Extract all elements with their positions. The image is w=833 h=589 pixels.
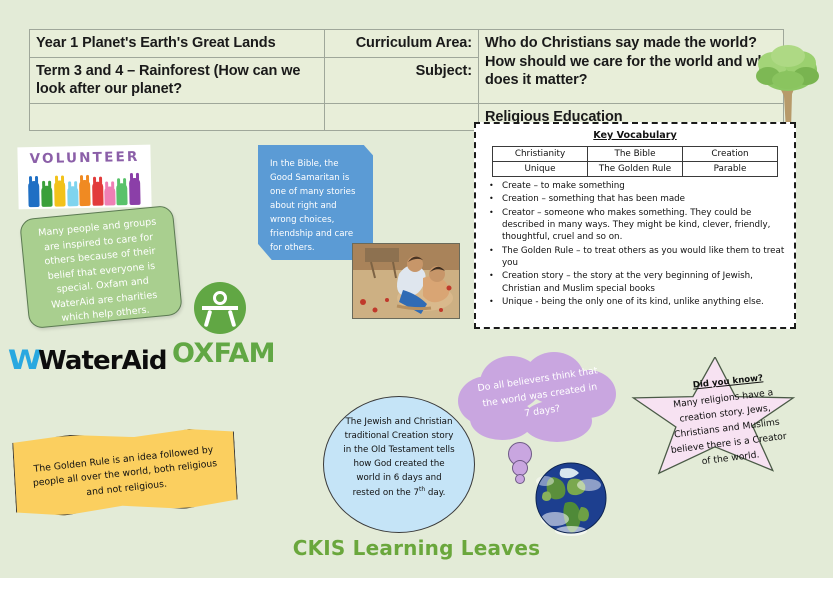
volunteer-hand-icon [67, 186, 78, 206]
vocab-term: Unique [493, 162, 588, 177]
wateraid-logo: W WaterAid [10, 344, 162, 378]
vocabulary-table: Christianity The Bible Creation Unique T… [492, 146, 778, 177]
volunteer-hand-icon [129, 178, 141, 205]
volunteer-hand-icon [104, 186, 115, 205]
blue-note-text: In the Bible, the Good Samaritan is one … [270, 158, 362, 255]
subject-label: Subject: [325, 57, 479, 103]
oxfam-label: OXFAM [172, 338, 272, 369]
volunteer-logo: VOLUNTEER [17, 145, 151, 210]
vocab-term: The Bible [588, 147, 683, 162]
blue-circle-text: The Jewish and Christian traditional Cre… [342, 415, 456, 500]
knowledge-organizer-page: Year 1 Planet's Earth's Great Lands Curr… [0, 0, 833, 578]
vocabulary-title: Key Vocabulary [476, 130, 794, 141]
volunteer-hand-icon [41, 186, 52, 207]
vocab-term: Creation [683, 147, 778, 162]
yellow-note-golden-rule: The Golden Rule is an idea followed by p… [12, 426, 238, 518]
page-title: CKIS Learning Leaves [0, 536, 833, 560]
earth-globe-photo [531, 459, 611, 537]
volunteer-hand-icon [28, 181, 40, 207]
volunteer-hand-icon [79, 180, 91, 206]
volunteer-hand-icon [54, 180, 66, 206]
oxfam-logo: OXFAM [172, 282, 272, 378]
spacer-cell [325, 103, 479, 131]
table-row: Christianity The Bible Creation [493, 147, 778, 162]
vocab-term: Christianity [493, 147, 588, 162]
list-item: Creator – someone who makes something. T… [502, 207, 786, 244]
table-row: Year 1 Planet's Earth's Great Lands Curr… [30, 30, 784, 58]
volunteer-hand-icon [92, 182, 104, 206]
cloud-tail-bubble [515, 474, 525, 484]
vocabulary-definition-list: Create – to make something Creation – so… [476, 180, 794, 308]
key-vocabulary-panel: Key Vocabulary Christianity The Bible Cr… [474, 122, 796, 329]
term-cell: Term 3 and 4 – Rainforest (How can we lo… [30, 57, 325, 103]
vocab-term: The Golden Rule [588, 162, 683, 177]
wateraid-label: WaterAid [38, 346, 167, 376]
list-item: Creation – something that has been made [502, 193, 786, 205]
oxfam-figure-icon [194, 282, 246, 334]
yellow-note-text: The Golden Rule is an idea followed by p… [27, 443, 223, 507]
list-item: Creation story – the story at the very b… [502, 270, 786, 295]
volunteer-label: VOLUNTEER [25, 149, 143, 167]
green-note-charities: Many people and groups are inspired to c… [19, 205, 183, 329]
curriculum-area-value: Who do Christians say made the world? Ho… [479, 30, 784, 104]
curriculum-area-label: Curriculum Area: [325, 30, 479, 58]
vocab-term: Parable [683, 162, 778, 177]
wateraid-mark-icon: W [8, 345, 40, 377]
table-row: Unique The Golden Rule Parable [493, 162, 778, 177]
volunteer-hand-icon [116, 183, 127, 205]
topic-cell: Year 1 Planet's Earth's Great Lands [30, 30, 325, 58]
star-body-text: Many religions have a creation story. Je… [664, 385, 790, 473]
spacer-cell [30, 103, 325, 131]
tree-illustration [748, 38, 828, 130]
list-item: Unique - being the only one of its kind,… [502, 296, 786, 308]
list-item: The Golden Rule – to treat others as you… [502, 245, 786, 270]
list-item: Create – to make something [502, 180, 786, 192]
header-table: Year 1 Planet's Earth's Great Lands Curr… [29, 29, 784, 131]
good-samaritan-painting [352, 243, 460, 319]
green-note-text: Many people and groups are inspired to c… [29, 215, 174, 330]
